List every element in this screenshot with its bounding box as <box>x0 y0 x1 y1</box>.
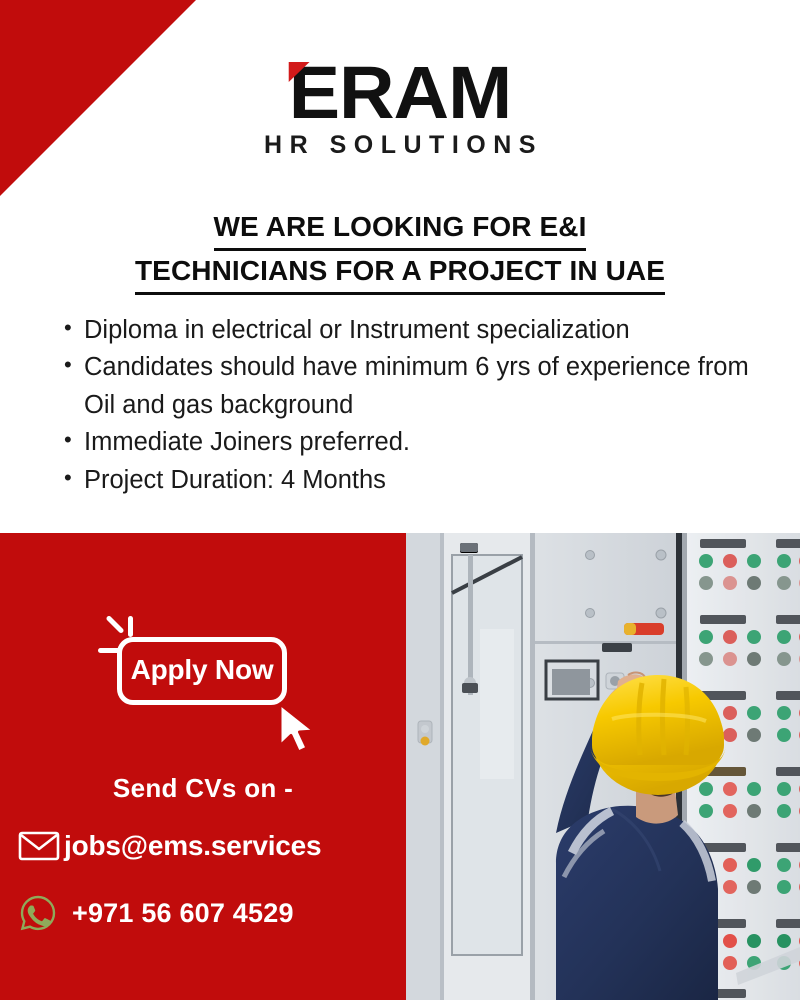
brand-logo: ERAM HR SOLUTIONS <box>0 58 800 160</box>
bullet-marker-icon: • <box>64 312 84 344</box>
requirements-list: • Diploma in electrical or Instrument sp… <box>64 312 784 499</box>
apply-now-label: Apply Now <box>131 654 274 686</box>
job-advertisement-poster: ERAM HR SOLUTIONS WE ARE LOOKING FOR E&I… <box>0 0 800 1000</box>
list-item-label: Project Duration: 4 Months <box>84 462 784 499</box>
phone-contact-row[interactable]: +971 56 607 4529 <box>18 893 294 933</box>
page-title: WE ARE LOOKING FOR E&I TECHNICIANS FOR A… <box>0 207 800 295</box>
list-item: • Candidates should have minimum 6 yrs o… <box>64 349 784 424</box>
phone-number: +971 56 607 4529 <box>64 898 294 929</box>
whatsapp-icon <box>18 893 64 933</box>
envelope-icon <box>18 830 64 862</box>
email-contact-row[interactable]: jobs@ems.services <box>18 830 321 862</box>
list-item: • Diploma in electrical or Instrument sp… <box>64 312 784 349</box>
bullet-marker-icon: • <box>64 424 84 456</box>
mouse-cursor-icon <box>272 700 326 763</box>
list-item: • Immediate Joiners preferred. <box>64 424 784 461</box>
logo-tagline: HR SOLUTIONS <box>257 131 543 160</box>
logo-wordmark: ERAM <box>289 58 511 128</box>
logo-wordmark-text: ERAM <box>289 51 511 134</box>
bullet-marker-icon: • <box>64 349 84 381</box>
list-item-label: Diploma in electrical or Instrument spec… <box>84 312 784 349</box>
apply-now-button[interactable]: Apply Now <box>117 637 287 705</box>
technician-photo <box>406 533 800 1000</box>
apply-now-area: Apply Now <box>0 611 406 751</box>
list-item-label: Immediate Joiners preferred. <box>84 424 784 461</box>
headline-line-1: WE ARE LOOKING FOR E&I <box>214 207 587 251</box>
list-item-label: Candidates should have minimum 6 yrs of … <box>84 349 784 424</box>
headline-line-2: TECHNICIANS FOR A PROJECT IN UAE <box>135 251 665 295</box>
bullet-marker-icon: • <box>64 462 84 494</box>
list-item: • Project Duration: 4 Months <box>64 462 784 499</box>
send-cvs-heading: Send CVs on - <box>0 773 406 804</box>
email-address: jobs@ems.services <box>64 830 321 862</box>
contact-band: Apply Now Send CVs on - jobs@ems.service… <box>0 533 800 1000</box>
spark-line-horizontal-icon <box>98 648 122 653</box>
spark-line-vertical-icon <box>128 616 133 637</box>
logo-accent-triangle-icon <box>289 62 310 82</box>
